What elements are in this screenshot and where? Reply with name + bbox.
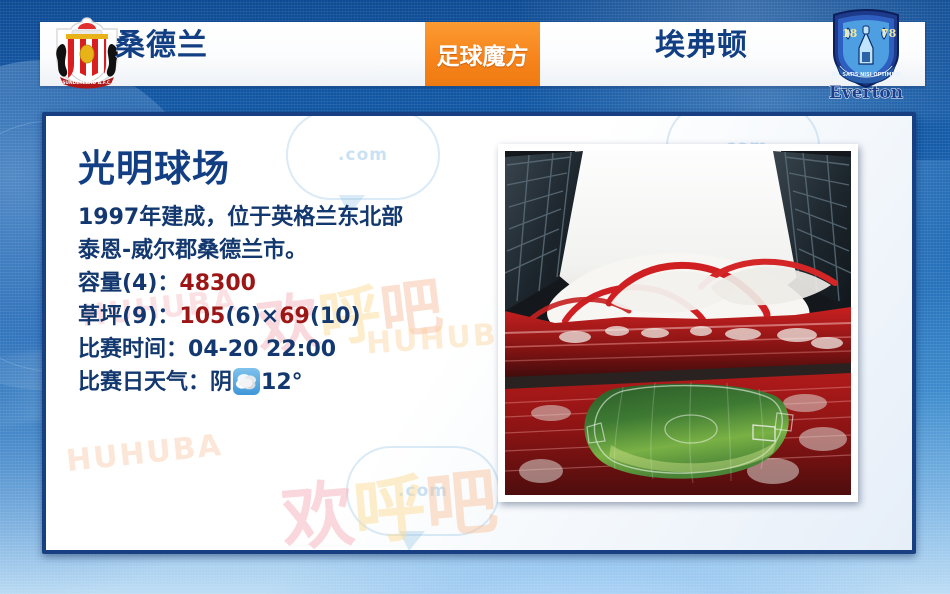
weather-condition: 阴 xyxy=(210,370,232,395)
stadium-info-text: 光明球场 1997年建成，位于英格兰东北部 泰恩-威尔郡桑德兰市。 容量(4)：… xyxy=(78,138,498,399)
weather-row: 比赛日天气：阴 12° xyxy=(78,366,498,399)
pitch-row: 草坪(9)：105(6)×69(10) xyxy=(78,300,498,333)
cloud-icon xyxy=(233,368,260,395)
capacity-value: 48300 xyxy=(179,271,256,296)
stadium-description-line-2: 泰恩-威尔郡桑德兰市。 xyxy=(78,234,498,267)
pitch-separator: × xyxy=(261,304,279,329)
everton-year-right: 78 xyxy=(881,27,897,40)
everton-wordmark: Everton xyxy=(829,83,903,102)
pitch-length-rank: (6) xyxy=(225,304,260,329)
stadium-description-line-1: 1997年建成，位于英格兰东北部 xyxy=(78,201,498,234)
stadium-photo xyxy=(505,151,851,495)
site-logo-label: 足球魔方 xyxy=(437,37,529,71)
watermark-bubble-3: .com xyxy=(346,446,500,536)
stadium-title: 光明球场 xyxy=(78,138,498,192)
away-team-name: 埃弗顿 xyxy=(655,20,748,64)
pitch-length-value: 105 xyxy=(179,304,225,329)
pitch-width-value: 69 xyxy=(279,304,310,329)
capacity-row: 容量(4)：48300 xyxy=(78,267,498,300)
weather-temp: 12° xyxy=(261,370,303,395)
match-time-value: 04-20 22:00 xyxy=(188,337,336,362)
stadium-info-card: .com .com .com 欢呼吧 欢呼吧 HUHUBA HUHUBA HUH… xyxy=(42,112,916,554)
watermark-brand-2: 欢呼吧 xyxy=(277,442,501,554)
everton-crest-icon: 18 78 NIL SATIS NISI OPTIMUM Everton xyxy=(818,6,914,102)
watermark-pinyin-2: HUHUBA xyxy=(65,428,225,479)
capacity-label: 容量(4)： xyxy=(78,271,179,296)
svg-text:SUNDERLAND A.F.C.: SUNDERLAND A.F.C. xyxy=(62,80,112,86)
stadium-photo-frame xyxy=(498,144,858,502)
pitch-width-rank: (10) xyxy=(310,304,361,329)
site-logo[interactable]: 足球魔方 xyxy=(425,22,540,86)
match-time-row: 比赛时间：04-20 22:00 xyxy=(78,333,498,366)
screen: SUNDERLAND A.F.C. 桑德兰 足球魔方 埃弗顿 18 78 NIL… xyxy=(0,0,950,594)
weather-label: 比赛日天气： xyxy=(78,370,210,395)
pitch-label: 草坪(9)： xyxy=(78,304,179,329)
match-time-label: 比赛时间： xyxy=(78,337,188,362)
everton-year-left: 18 xyxy=(842,27,858,40)
home-team-name: 桑德兰 xyxy=(115,20,208,64)
svg-text:NIL SATIS NISI OPTIMUM: NIL SATIS NISI OPTIMUM xyxy=(831,72,900,78)
